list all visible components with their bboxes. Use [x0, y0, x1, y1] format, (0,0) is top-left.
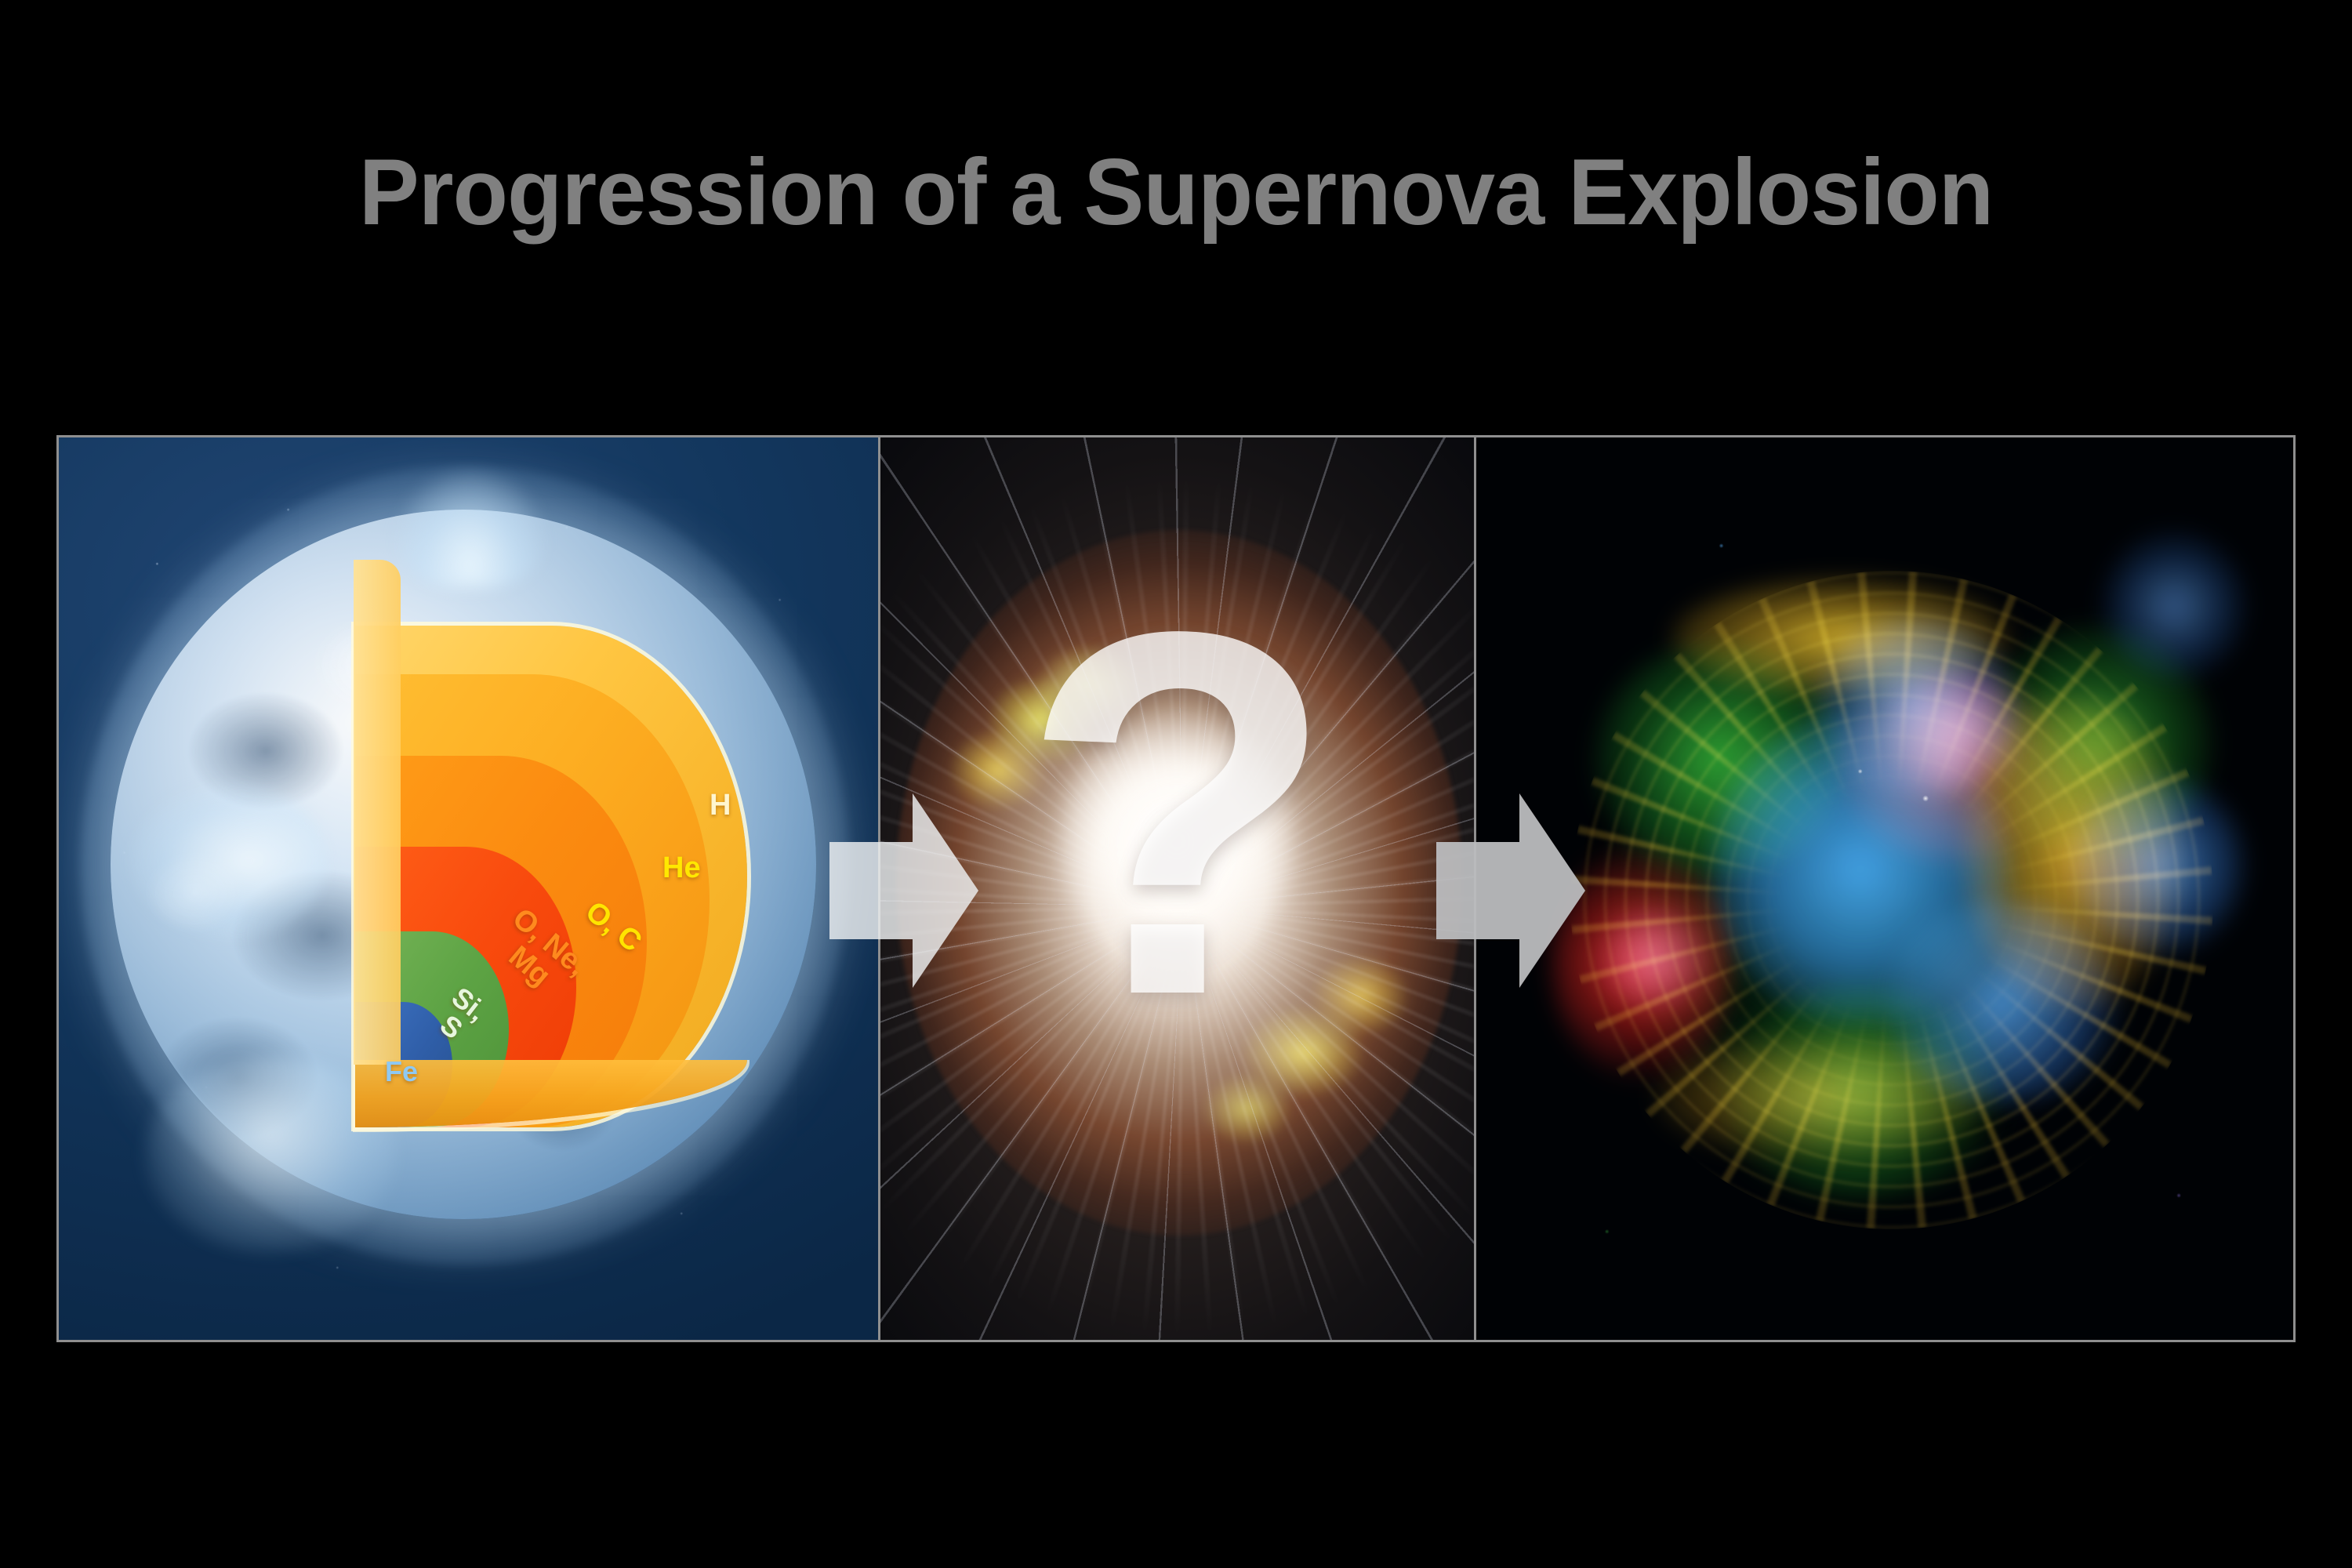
panel-progenitor-star: H He O, C O, Ne, Mg Si, S Fe	[59, 437, 878, 1340]
stellar-wisp-left	[131, 782, 327, 939]
cutaway-side-face	[354, 560, 401, 1065]
panel-supernova-remnant	[1474, 437, 2293, 1340]
remnant-point-sources	[1476, 437, 2293, 1340]
page-title: Progression of a Supernova Explosion	[47, 140, 2305, 245]
cutaway-bottom-face	[355, 1060, 747, 1127]
onion-shell-cutaway: H He O, C O, Ne, Mg Si, S Fe	[355, 563, 857, 1127]
panel-supernova-explosion: ?	[878, 437, 1474, 1340]
question-mark-icon: ?	[880, 555, 1474, 1073]
supernova-progression-figure: H He O, C O, Ne, Mg Si, S Fe ?	[56, 435, 2296, 1342]
